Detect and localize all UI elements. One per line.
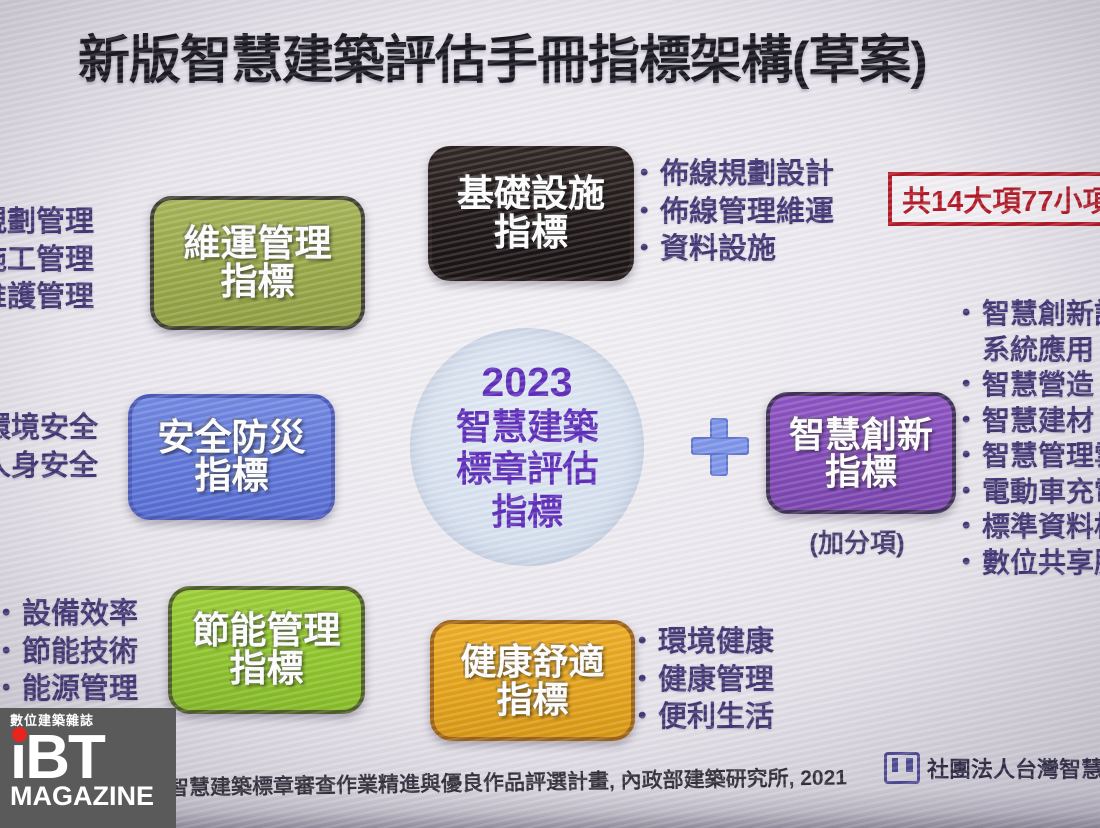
box-infrastructure-line1: 基礎設施 xyxy=(457,175,605,213)
center-circle-evaluation-indicator: 2023 智慧建築 標章評估 指標 xyxy=(410,328,644,566)
plus-icon xyxy=(691,418,747,474)
list-safety: 環境安全 人身安全 xyxy=(0,410,98,485)
org-logo: 社團法人台灣智慧建築 xyxy=(884,752,1100,784)
list-item: 設備效率 xyxy=(2,596,138,634)
box-innovation-line2: 指標 xyxy=(825,453,897,490)
box-safety-line2: 指標 xyxy=(195,457,269,495)
list-item: 標準資料格式 xyxy=(962,509,1100,545)
list-item: 規劃管理 xyxy=(0,204,94,242)
box-energy-line1: 節能管理 xyxy=(193,612,341,650)
slide-photo: 新版智慧建築評估手冊指標架構(草案) 基礎設施 指標 佈線規劃設計 佈線管理維運… xyxy=(0,0,1100,828)
list-item: 智慧管理雲 xyxy=(962,438,1100,474)
summary-badge: 共14大項77小項評估 xyxy=(888,172,1100,226)
list-health: 環境健康 健康管理 便利生活 xyxy=(638,624,774,737)
page-title: 新版智慧建築評估手冊指標架構(草案) xyxy=(78,18,927,93)
list-innovation: 智慧創新設備 系統應用 智慧營造 智慧建材 智慧管理雲 電動車充電 標準資料格式… xyxy=(962,296,1100,580)
box-health-indicator[interactable]: 健康舒適 指標 xyxy=(430,620,635,741)
list-item: 維護管理 xyxy=(0,279,94,317)
center-line-1: 智慧建築 xyxy=(456,406,598,448)
red-dot-icon xyxy=(12,727,27,742)
box-maintenance-line2: 指標 xyxy=(221,263,295,301)
list-item: 環境健康 xyxy=(638,624,774,662)
list-energy: 設備效率 節能技術 能源管理 xyxy=(2,596,138,709)
list-item: 節能技術 xyxy=(2,634,138,672)
list-item-continuation: 系統應用 xyxy=(962,332,1100,368)
box-infrastructure-line2: 指標 xyxy=(494,214,568,252)
box-innovation-indicator[interactable]: 智慧創新 指標 xyxy=(766,392,956,514)
list-maintenance: 規劃管理 施工管理 維護管理 xyxy=(0,204,94,317)
list-item: 便利生活 xyxy=(638,699,774,737)
addon-note: (加分項) xyxy=(766,523,948,560)
list-item: 施工管理 xyxy=(0,242,94,280)
ibt-magazine-watermark: 數位建築雜誌 iBT MAGAZINE xyxy=(0,708,176,828)
org-name: 社團法人台灣智慧建築 xyxy=(927,752,1100,784)
list-item: 智慧建材 xyxy=(962,403,1100,439)
list-item: 健康管理 xyxy=(638,662,774,700)
box-innovation-line1: 智慧創新 xyxy=(789,416,933,453)
list-item: 數位共享服務 xyxy=(962,545,1100,581)
list-infrastructure: 佈線規劃設計 佈線管理維運 資料設施 xyxy=(640,156,834,269)
list-item: 資料設施 xyxy=(640,231,834,269)
box-health-line2: 指標 xyxy=(496,681,568,718)
list-item: 佈線管理維運 xyxy=(640,194,834,232)
box-safety-line1: 安全防災 xyxy=(158,419,306,457)
center-line-2: 標章評估 xyxy=(456,448,598,490)
box-safety-indicator[interactable]: 安全防災 指標 xyxy=(128,394,335,520)
list-item: 能源管理 xyxy=(2,671,138,709)
center-year: 2023 xyxy=(481,361,572,404)
watermark-brand: iBT xyxy=(10,729,176,786)
list-item: 人身安全 xyxy=(0,448,98,486)
box-maintenance-indicator[interactable]: 維運管理 指標 xyxy=(150,196,365,330)
box-maintenance-line1: 維運管理 xyxy=(184,225,332,263)
building-mark-icon xyxy=(884,752,920,784)
list-item: 智慧創新設備 xyxy=(962,296,1100,332)
box-energy-indicator[interactable]: 節能管理 指標 xyxy=(168,586,365,714)
list-item: 智慧營造 xyxy=(962,367,1100,403)
box-energy-line2: 指標 xyxy=(230,650,304,688)
list-item: 佈線規劃設計 xyxy=(640,156,834,194)
box-health-line1: 健康舒適 xyxy=(460,643,604,680)
list-item: 環境安全 xyxy=(0,410,98,448)
list-item: 電動車充電 xyxy=(962,474,1100,510)
center-line-3: 指標 xyxy=(491,491,562,533)
box-infrastructure-indicator[interactable]: 基礎設施 指標 xyxy=(428,146,634,281)
